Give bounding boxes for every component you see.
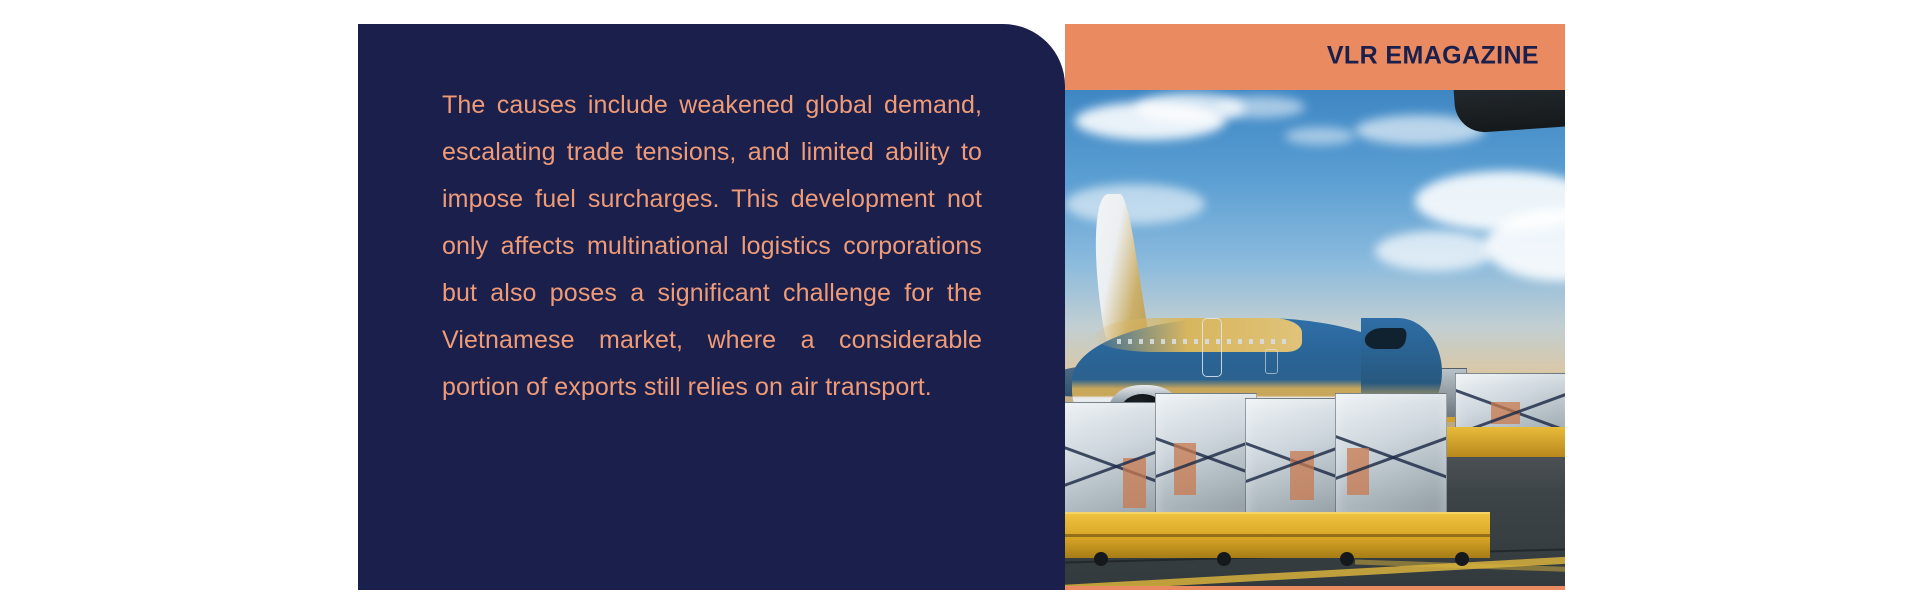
right-column: VLR EMAGAZINE	[1065, 24, 1565, 590]
airplane-gold-livery	[1095, 318, 1302, 352]
carton	[1174, 443, 1196, 495]
header-bar: VLR EMAGAZINE	[1065, 24, 1565, 87]
article-panel: The causes include weakened global deman…	[358, 24, 1065, 590]
cloud	[1215, 96, 1305, 118]
dolly-wheel	[1455, 552, 1469, 566]
airplane-cockpit-window	[1363, 328, 1407, 349]
cargo-pallet	[1155, 393, 1257, 519]
carton	[1123, 458, 1146, 508]
carton	[1290, 451, 1314, 501]
jetbridge	[1454, 90, 1565, 134]
cargo-pallet	[1245, 398, 1347, 524]
cargo-dolly-train	[1065, 512, 1490, 559]
carton	[1347, 448, 1369, 495]
magazine-slide: VLR EMAGAZINE	[0, 0, 1920, 614]
airplane-door	[1202, 318, 1223, 377]
airplane-door	[1265, 349, 1278, 374]
cargo-pallet	[1335, 393, 1447, 519]
photo-frame	[1065, 87, 1565, 590]
page-title: VLR EMAGAZINE	[1327, 41, 1539, 70]
cargo-dolly	[1445, 427, 1565, 457]
carton	[1491, 402, 1521, 424]
article-body-text: The causes include weakened global deman…	[442, 82, 982, 411]
cloud	[1285, 127, 1355, 145]
dolly-rail	[1065, 534, 1490, 537]
air-cargo-photo	[1065, 90, 1565, 586]
